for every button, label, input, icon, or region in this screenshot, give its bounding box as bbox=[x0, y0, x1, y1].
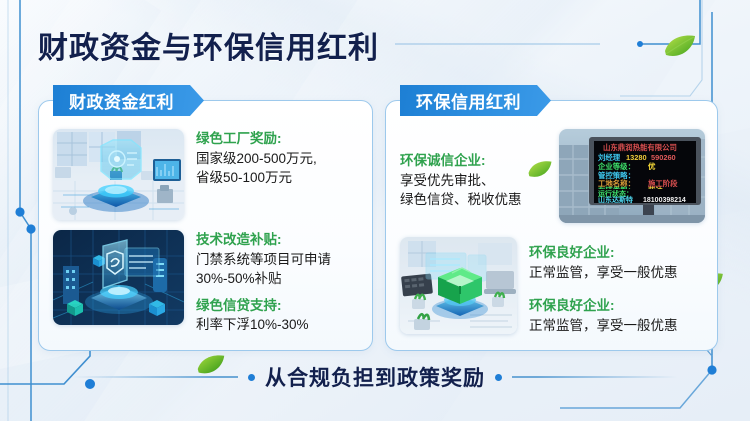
card-fiscal-funds-header: 财政资金红利 bbox=[53, 85, 204, 116]
credit-item-3-line-1: 正常监管，享受一般优惠 bbox=[529, 316, 705, 336]
card-fiscal-funds: 财政资金红利 bbox=[38, 100, 373, 351]
fiscal-item-2-line-1: 门禁系统等项目可申请 bbox=[196, 250, 360, 270]
image-green-cash-stack bbox=[400, 237, 517, 334]
image-led-display-board: 山东鼎润热能有限公司 刘经理 13280 590260 企业等级： 优 管控策略… bbox=[559, 129, 705, 223]
svg-text:山东达斯特: 山东达斯特 bbox=[598, 195, 633, 204]
card-environmental-credit: 环保信用红利 环保诚信企业: 享受优先审批、 绿色信贷、税收优惠 bbox=[385, 100, 718, 351]
fiscal-item-2-label: 技术改造补贴: bbox=[196, 230, 360, 250]
svg-text:企业等级：: 企业等级： bbox=[597, 162, 635, 171]
page-title: 财政资金与环保信用红利 bbox=[38, 23, 379, 67]
fiscal-item-1-line-1: 国家级200-500万元, bbox=[196, 149, 360, 169]
credit-item-3-label: 环保良好企业: bbox=[529, 296, 705, 316]
svg-text:18100398214: 18100398214 bbox=[643, 197, 686, 204]
svg-text:590260: 590260 bbox=[651, 153, 676, 162]
credit-item-1-line-1: 享受优先审批、 bbox=[400, 171, 547, 191]
card-fiscal-funds-body: 绿色工厂奖励: 国家级200-500万元, 省级50-100万元 bbox=[39, 123, 372, 344]
svg-text:13280: 13280 bbox=[626, 153, 647, 162]
leaf-icon-top-right bbox=[663, 34, 697, 65]
fiscal-item-1-label: 绿色工厂奖励: bbox=[196, 129, 360, 149]
credit-items-2-3: 环保良好企业: 正常监管，享受一般优惠 环保良好企业: 正常监管，享受一般优惠 bbox=[529, 237, 705, 335]
fiscal-item-1-line-2: 省级50-100万元 bbox=[196, 168, 360, 188]
banner-text: 从合规负担到政策奖励 bbox=[265, 362, 485, 392]
svg-text:刘经理: 刘经理 bbox=[598, 153, 621, 162]
credit-item-1-line-2: 绿色信贷、税收优惠 bbox=[400, 190, 547, 210]
card-environmental-credit-header: 环保信用红利 bbox=[400, 85, 551, 116]
credit-item-1-label: 环保诚信企业: bbox=[400, 151, 547, 171]
fiscal-item-3-label: 绿色信贷支持: bbox=[196, 296, 360, 316]
banner-line-left bbox=[73, 376, 238, 377]
svg-text:优: 优 bbox=[648, 162, 656, 171]
credit-item-1: 环保诚信企业: 享受优先审批、 绿色信贷、税收优惠 bbox=[400, 129, 547, 210]
fiscal-item-2-line-2: 30%-50%补贴 bbox=[196, 269, 360, 289]
image-holographic-shield-office bbox=[53, 129, 184, 220]
svg-text:山东鼎润热能有限公司: 山东鼎润热能有限公司 bbox=[603, 143, 677, 152]
banner-line-right bbox=[512, 376, 677, 377]
fiscal-item-1: 绿色工厂奖励: 国家级200-500万元, 省级50-100万元 bbox=[196, 129, 360, 188]
banner-dot-right bbox=[495, 374, 502, 381]
banner-dot-left bbox=[248, 374, 255, 381]
credit-item-2-label: 环保良好企业: bbox=[529, 243, 705, 263]
image-data-security-dark bbox=[53, 230, 184, 325]
credit-item-2-line-1: 正常监管，享受一般优惠 bbox=[529, 263, 705, 283]
card-environmental-credit-body: 环保诚信企业: 享受优先审批、 绿色信贷、税收优惠 bbox=[386, 123, 717, 344]
fiscal-items-2-3: 技术改造补贴: 门禁系统等项目可申请 30%-50%补贴 绿色信贷支持: 利率下… bbox=[196, 230, 360, 335]
fiscal-item-3-line-1: 利率下浮10%-30% bbox=[196, 315, 360, 335]
bottom-banner: 从合规负担到政策奖励 bbox=[0, 362, 750, 392]
